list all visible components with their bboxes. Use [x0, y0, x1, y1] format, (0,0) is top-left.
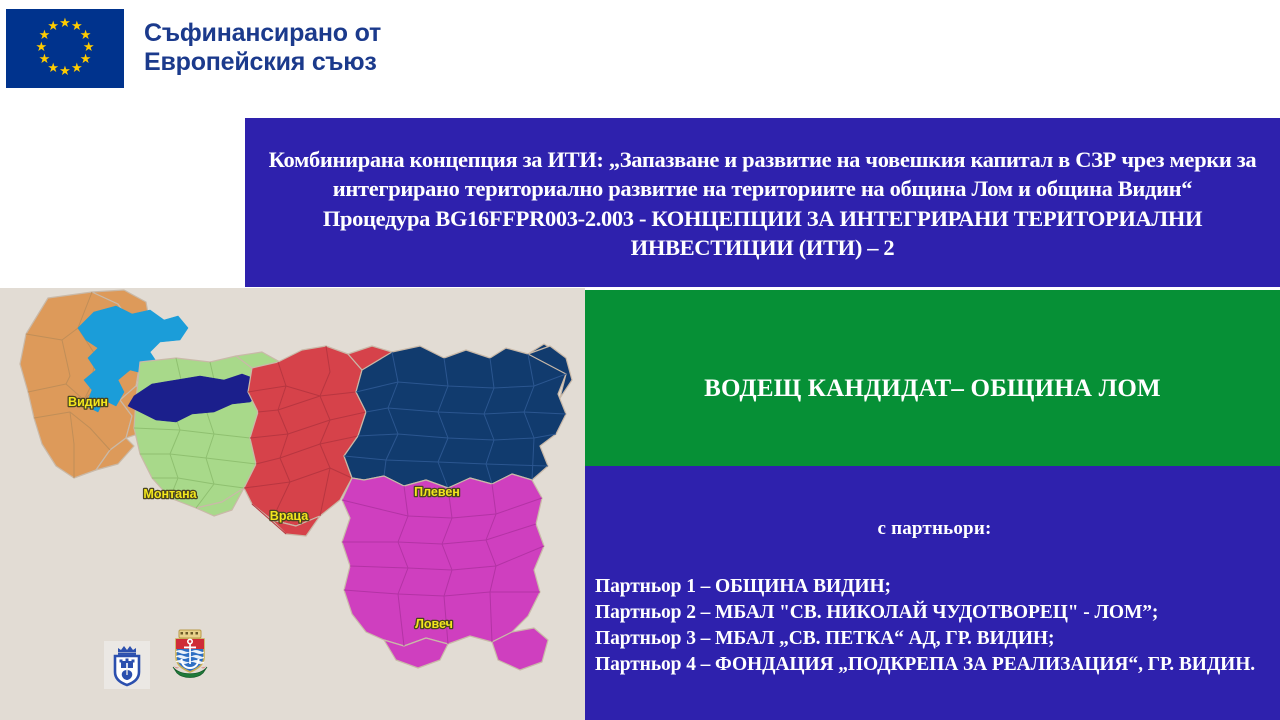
partners-heading: с партньори: — [595, 518, 1274, 540]
eu-cofunding-label: Съфинансирано от Европейския съюз — [144, 19, 381, 78]
map-label-lovech: Ловеч — [415, 617, 453, 631]
lead-candidate-text: ВОДЕЩ КАНДИДАТ– ОБЩИНА ЛОМ — [704, 375, 1161, 403]
eu-star-icon: ★ — [59, 18, 71, 30]
procedure-title-text: Процедура BG16FFPR003-2.003 - КОНЦЕПЦИИ … — [259, 204, 1266, 263]
vidin-coat-of-arms-icon — [104, 641, 150, 689]
partner-item: Партньор 4 – ФОНДАЦИЯ „ПОДКРЕПА ЗА РЕАЛИ… — [595, 652, 1274, 678]
partner-item: Партньор 1 – ОБЩИНА ВИДИН; — [595, 574, 1274, 600]
partners-panel: с партньори: Партньор 1 – ОБЩИНА ВИДИН; … — [585, 466, 1280, 720]
eu-star-icon: ★ — [47, 21, 59, 33]
eu-star-icon: ★ — [59, 66, 71, 78]
lead-candidate-banner: ВОДЕЩ КАНДИДАТ– ОБЩИНА ЛОМ — [585, 290, 1280, 466]
partner-item: Партньор 3 – МБАЛ „СВ. ПЕТКА“ АД, ГР. ВИ… — [595, 626, 1274, 652]
province-pleven — [344, 344, 572, 488]
eu-star-icon: ★ — [35, 42, 47, 54]
map-label-vratsa: Враца — [270, 509, 309, 523]
presentation-slide: ★★★★★★★★★★★★ Съфинансирано от Европейски… — [0, 0, 1280, 720]
partners-list: Партньор 1 – ОБЩИНА ВИДИН; Партньор 2 – … — [595, 574, 1274, 678]
lom-coat-of-arms-icon — [169, 627, 211, 679]
slide-title-banner: Комбинирана концепция за ИТИ: „Запазване… — [245, 118, 1280, 287]
map-label-pleven: Плевен — [414, 485, 460, 499]
eu-cofunding-logo: ★★★★★★★★★★★★ Съфинансирано от Европейски… — [0, 0, 432, 96]
map-graphic: Видин Монтана Враца Плевен Ловеч — [0, 288, 585, 720]
eu-star-icon: ★ — [71, 63, 83, 75]
northwest-region-map: Видин Монтана Враца Плевен Ловеч — [0, 288, 585, 720]
map-label-vidin: Видин — [68, 395, 108, 409]
eu-star-icon: ★ — [38, 54, 50, 66]
eu-flag-icon: ★★★★★★★★★★★★ — [6, 9, 124, 88]
partner-item: Партньор 2 – МБАЛ "СВ. НИКОЛАЙ ЧУДОТВОРЕ… — [595, 600, 1274, 626]
map-label-montana: Монтана — [143, 487, 197, 501]
concept-title-text: Комбинирана концепция за ИТИ: „Запазване… — [259, 145, 1266, 204]
